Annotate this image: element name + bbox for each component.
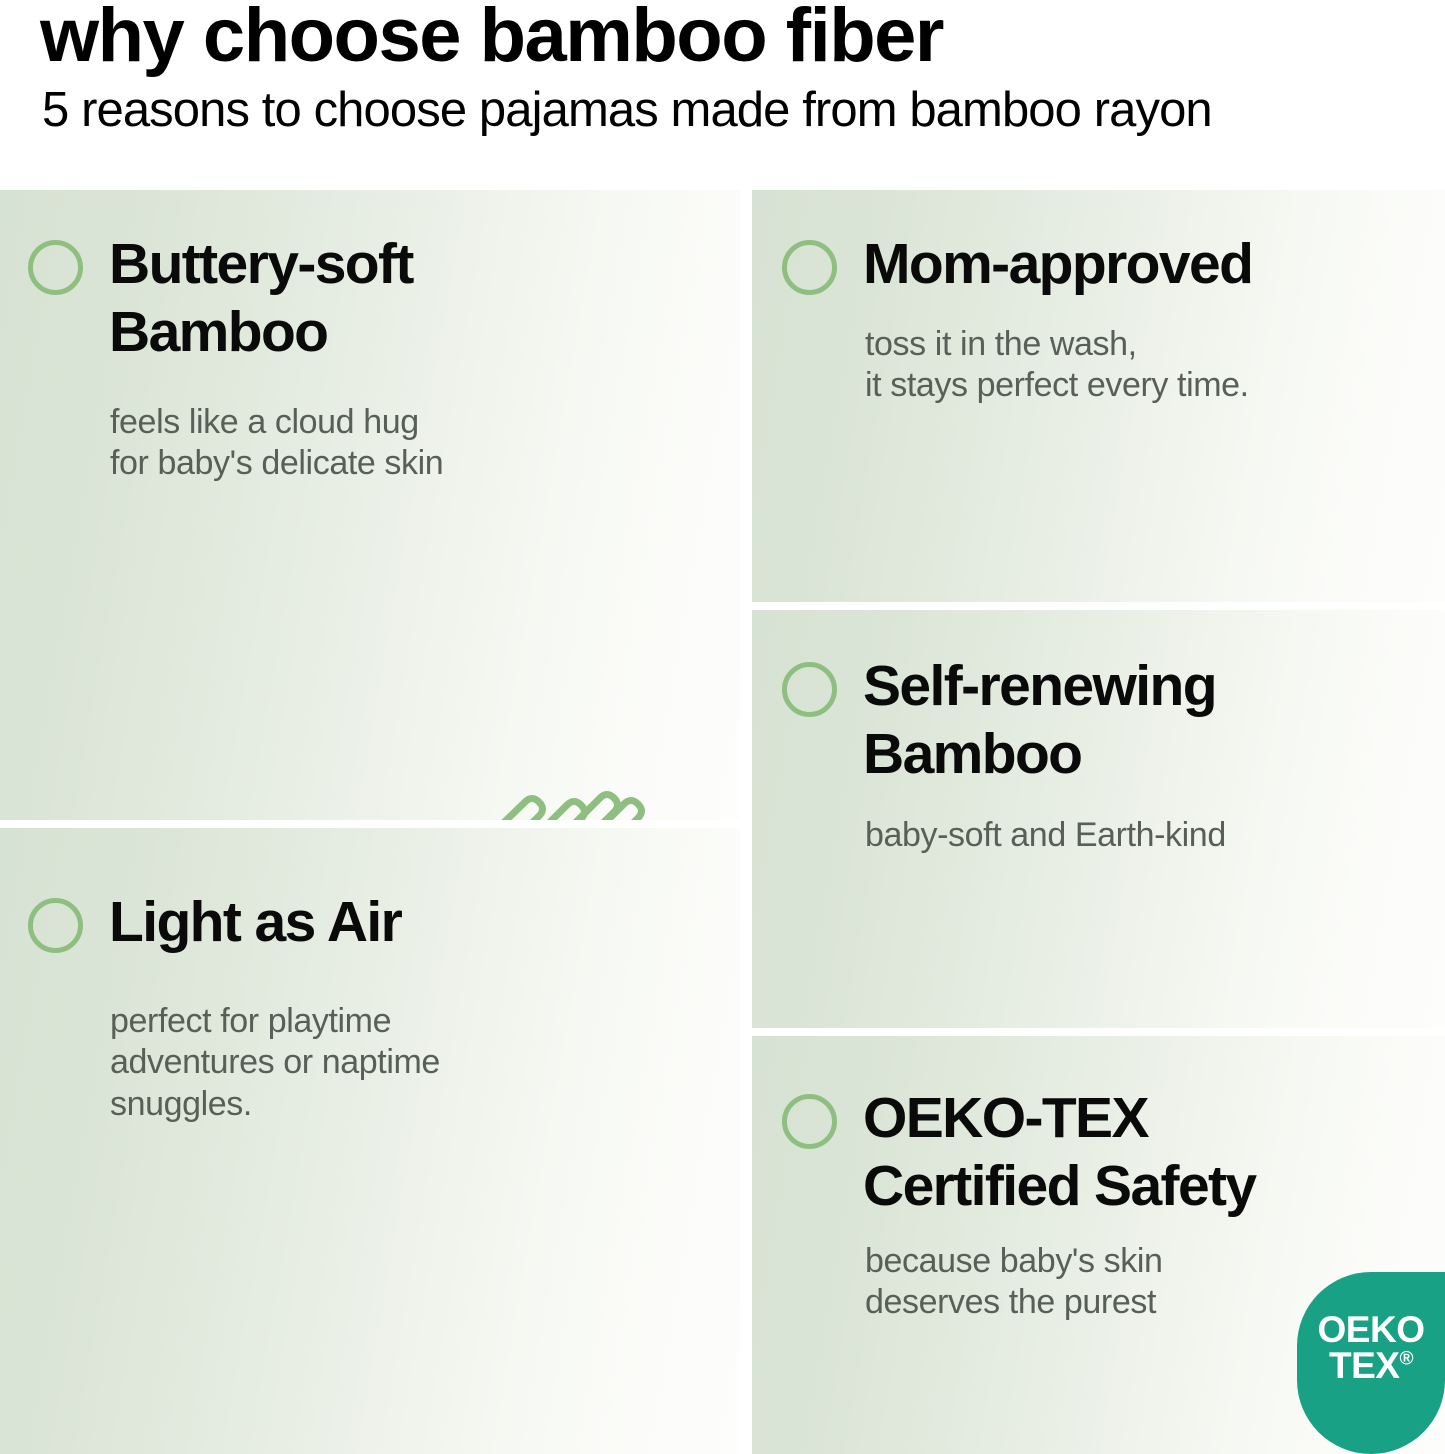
circle-bullet-icon: [782, 240, 837, 295]
card-light-as-air: Light as Air perfect for playtime advent…: [0, 828, 740, 1454]
circle-bullet-icon: [28, 898, 83, 953]
hand-soft-touch-icon: [470, 778, 720, 820]
card-heading: Mom-approved: [863, 230, 1252, 298]
card-body: baby-soft and Earth-kind: [865, 815, 1226, 856]
card-body: because baby's skin deserves the purest: [865, 1241, 1163, 1324]
card-heading-row: Mom-approved: [782, 230, 1252, 298]
page-title: why choose bamboo fiber: [40, 0, 943, 74]
card-self-renewing-bamboo: Self-renewing Bamboo baby-soft and Earth…: [752, 610, 1445, 1028]
oeko-tex-logo-line2: TEX®: [1297, 1348, 1445, 1384]
card-body: feels like a cloud hug for baby's delica…: [110, 402, 443, 485]
card-heading-row: OEKO-TEX Certified Safety: [782, 1084, 1256, 1221]
card-buttery-soft-bamboo: Buttery-soft Bamboo feels like a cloud h…: [0, 190, 740, 820]
card-heading: Light as Air: [109, 888, 401, 956]
card-heading: Buttery-soft Bamboo: [109, 230, 413, 367]
page-subtitle: 5 reasons to choose pajamas made from ba…: [42, 86, 1212, 135]
card-heading-row: Self-renewing Bamboo: [782, 652, 1216, 789]
oeko-tex-logo: OEKO TEX®: [1297, 1272, 1445, 1454]
card-body: toss it in the wash, it stays perfect ev…: [865, 324, 1249, 407]
circle-bullet-icon: [782, 662, 837, 717]
card-mom-approved: Mom-approved toss it in the wash, it sta…: [752, 190, 1445, 602]
registered-mark: ®: [1399, 1349, 1413, 1370]
card-heading: Self-renewing Bamboo: [863, 652, 1216, 789]
card-heading-row: Light as Air: [28, 888, 401, 956]
page-header: why choose bamboo fiber 5 reasons to cho…: [0, 0, 1445, 190]
circle-bullet-icon: [782, 1094, 837, 1149]
oeko-tex-logo-text: OEKO TEX®: [1297, 1312, 1445, 1385]
oeko-tex-logo-line1: OEKO: [1297, 1312, 1445, 1348]
card-heading-row: Buttery-soft Bamboo: [28, 230, 413, 367]
card-heading: OEKO-TEX Certified Safety: [863, 1084, 1256, 1221]
card-body: perfect for playtime adventures or napti…: [110, 1001, 440, 1125]
circle-bullet-icon: [28, 240, 83, 295]
